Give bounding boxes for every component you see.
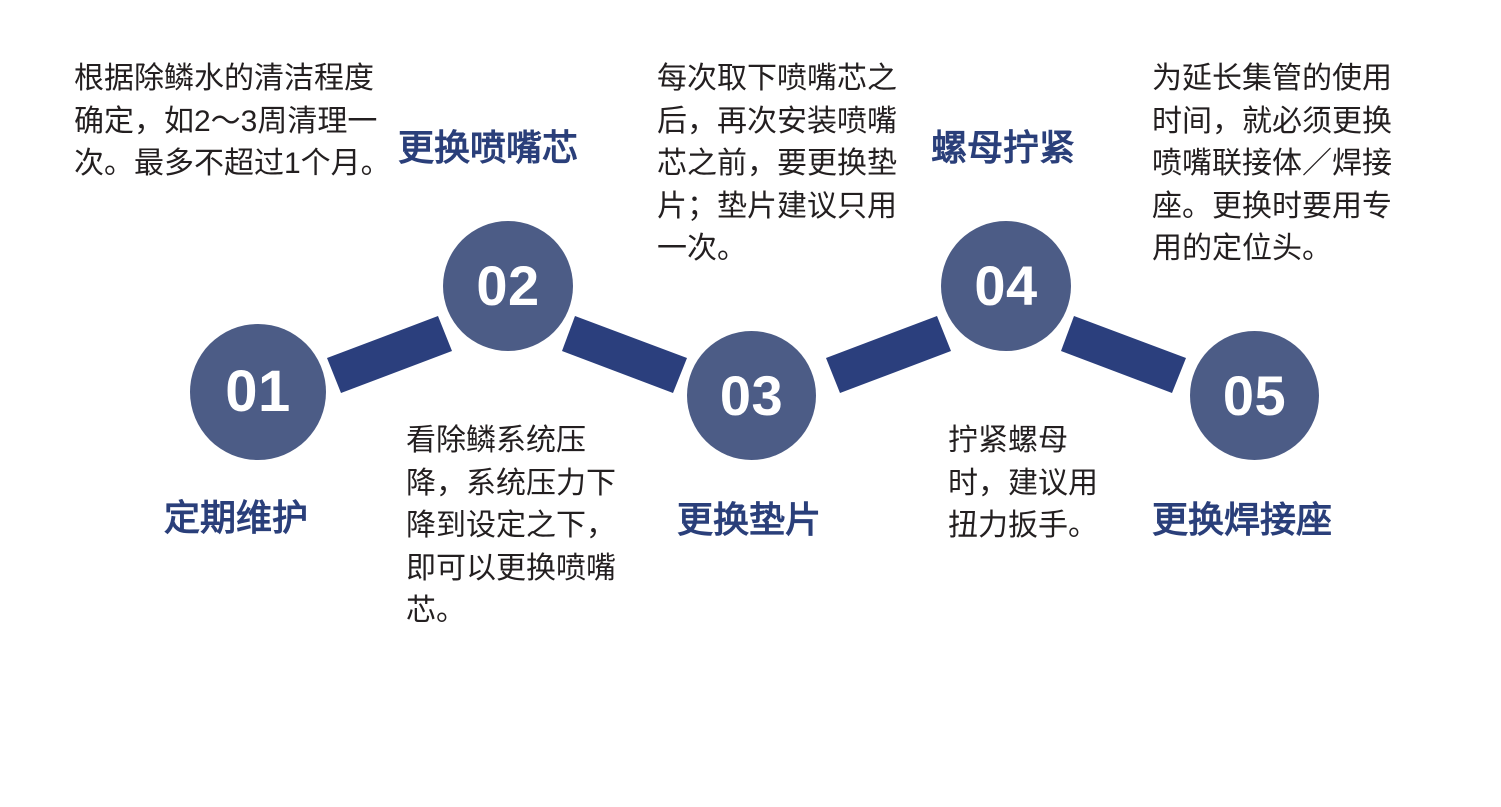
step-title-04: 螺母拧紧 [931, 127, 1075, 168]
connector-03-04 [826, 316, 951, 393]
step-node-03[interactable]: 03 [687, 331, 816, 460]
step-node-05[interactable]: 05 [1190, 331, 1319, 460]
step-title-01: 定期维护 [164, 497, 308, 538]
step-title-05: 更换焊接座 [1152, 499, 1332, 540]
step-description-02: 看除鳞系统压降，系统压力下降到设定之下，即可以更换喷嘴芯。 [406, 420, 624, 633]
step-description-04: 拧紧螺母时，建议用扭力扳手。 [948, 420, 1100, 548]
step-number-02: 02 [476, 258, 539, 314]
step-title-03: 更换垫片 [677, 499, 821, 540]
step-description-03: 每次取下喷嘴芯之后，再次安装喷嘴芯之前，要更换垫片；垫片建议只用一次。 [657, 58, 905, 271]
connector-04-05 [1061, 316, 1186, 393]
connector-02-03 [562, 316, 687, 393]
step-node-02[interactable]: 02 [443, 221, 573, 351]
step-description-05: 为延长集管的使用时间，就必须更换喷嘴联接体／焊接座。更换时要用专用的定位头。 [1152, 58, 1400, 271]
step-number-04: 04 [974, 258, 1037, 314]
step-title-02: 更换喷嘴芯 [398, 127, 578, 168]
connector-01-02 [327, 316, 452, 393]
step-node-01[interactable]: 01 [190, 324, 326, 460]
step-number-03: 03 [720, 368, 783, 424]
step-number-05: 05 [1223, 368, 1286, 424]
step-node-04[interactable]: 04 [941, 221, 1071, 351]
step-description-01: 根据除鳞水的清洁程度确定，如2～3周清理一次。最多不超过1个月。 [74, 58, 392, 186]
step-number-01: 01 [225, 363, 291, 421]
infographic-canvas: 根据除鳞水的清洁程度确定，如2～3周清理一次。最多不超过1个月。 01 定期维护… [0, 0, 1501, 807]
